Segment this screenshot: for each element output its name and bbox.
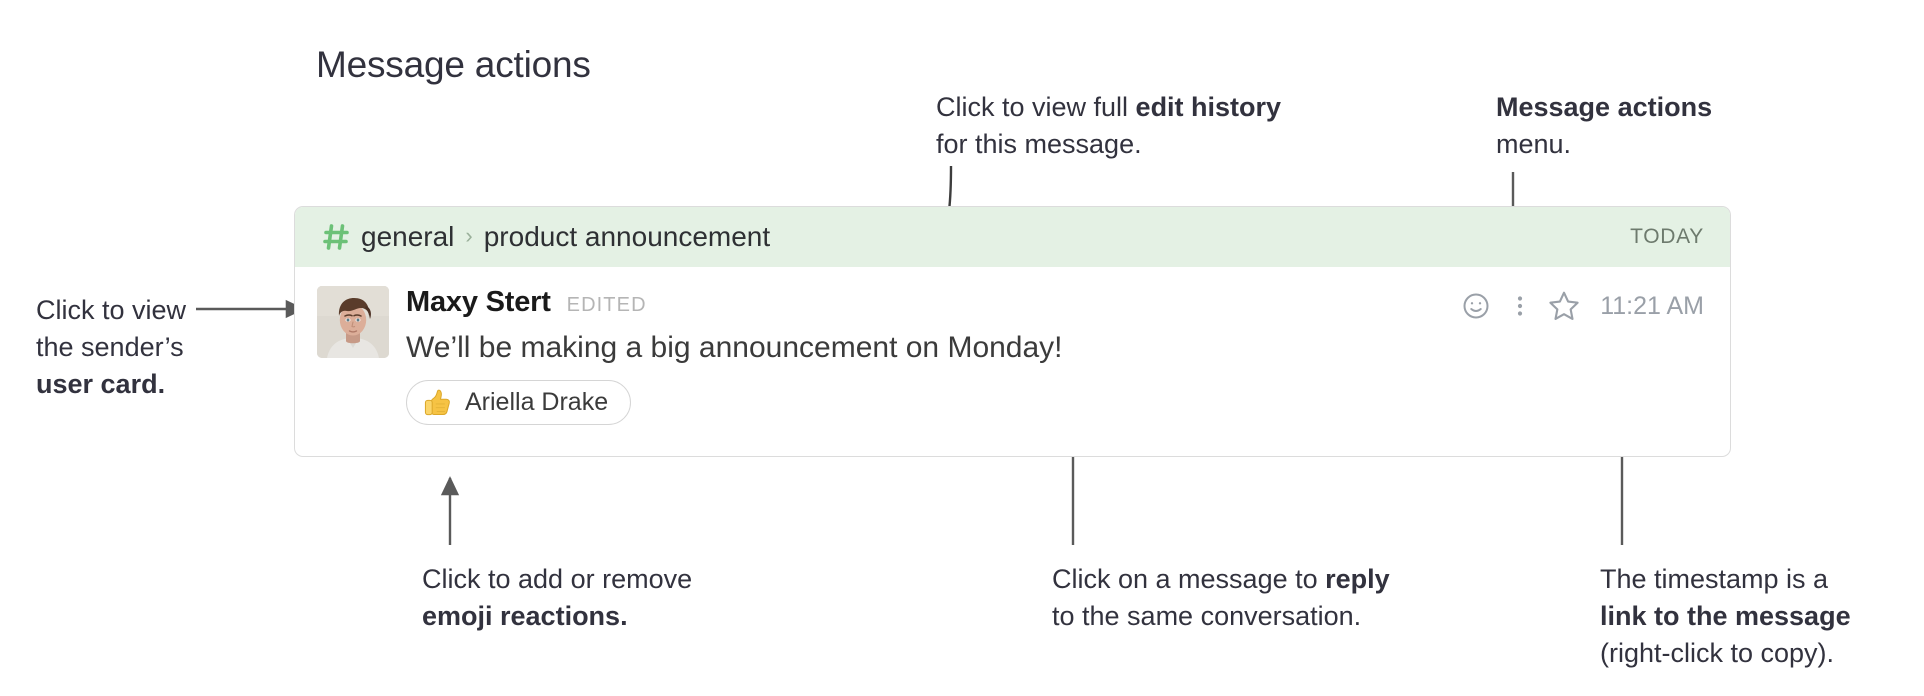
page-title: Message actions: [316, 44, 591, 86]
emoji-reaction-icon[interactable]: [1454, 288, 1498, 324]
message-row[interactable]: Maxy Stert EDITED We’ll be making a big …: [295, 267, 1730, 425]
annotation-actions-menu-line1-bold: Message actions: [1496, 92, 1712, 122]
message-actions-menu-icon[interactable]: [1498, 288, 1542, 324]
annotation-reply-line1-bold: reply: [1325, 564, 1390, 594]
stream-name[interactable]: general: [361, 221, 454, 253]
annotation-actions-menu-line2: menu.: [1496, 126, 1712, 163]
annotation-user-card: Click to view the sender’s user card.: [36, 292, 186, 403]
star-icon[interactable]: [1542, 288, 1586, 324]
annotation-edit-history-line1-bold: edit history: [1136, 92, 1282, 122]
message-controls: 11:21 AM: [1454, 288, 1704, 324]
message-card: general › product announcement TODAY: [294, 206, 1731, 457]
annotation-timestamp-line1: The timestamp is a: [1600, 561, 1851, 598]
annotation-timestamp-line3: (right-click to copy).: [1600, 635, 1851, 672]
annotation-user-card-line3-bold: user card.: [36, 369, 165, 399]
annotation-reply-line1-pre: Click on a message to: [1052, 564, 1325, 594]
hash-icon: [323, 222, 350, 252]
message-body[interactable]: We’ll be making a big announcement on Mo…: [406, 329, 1454, 367]
reaction-label: Ariella Drake: [465, 388, 608, 417]
annotation-actions-menu: Message actions menu.: [1496, 89, 1712, 163]
annotation-emoji-line2-bold: emoji reactions.: [422, 601, 628, 631]
page-root: Message actions Click to view full edit …: [0, 0, 1924, 696]
topic-name[interactable]: product announcement: [484, 221, 770, 253]
message-content: Maxy Stert EDITED We’ll be making a big …: [406, 286, 1454, 425]
annotation-timestamp-line2-bold: link to the message: [1600, 601, 1851, 631]
annotation-emoji-line1: Click to add or remove: [422, 561, 692, 598]
annotation-edit-history-line1-pre: Click to view full: [936, 92, 1136, 122]
annotation-reply-line2: to the same conversation.: [1052, 598, 1390, 635]
avatar[interactable]: [317, 286, 389, 358]
reaction-list: Ariella Drake: [406, 380, 1454, 425]
annotation-edit-history-line2: for this message.: [936, 126, 1281, 163]
recipient-bar[interactable]: general › product announcement TODAY: [295, 207, 1730, 267]
annotation-emoji-reactions: Click to add or remove emoji reactions.: [422, 561, 692, 635]
annotation-edit-history: Click to view full edit history for this…: [936, 89, 1281, 163]
breadcrumb-separator-icon: ›: [465, 225, 472, 247]
thumbs-up-emoji-icon: [423, 388, 453, 418]
sender-line: Maxy Stert EDITED: [406, 286, 1454, 322]
recipient-bar-date: TODAY: [1630, 225, 1704, 249]
avatar-photo: [317, 286, 389, 358]
sender-name[interactable]: Maxy Stert: [406, 286, 551, 319]
reaction-pill[interactable]: Ariella Drake: [406, 380, 631, 425]
annotation-timestamp: The timestamp is a link to the message (…: [1600, 561, 1851, 672]
message-timestamp[interactable]: 11:21 AM: [1600, 292, 1704, 321]
annotation-user-card-line1: Click to view: [36, 292, 186, 329]
annotation-user-card-line2: the sender’s: [36, 329, 186, 366]
annotation-reply: Click on a message to reply to the same …: [1052, 561, 1390, 635]
edited-badge[interactable]: EDITED: [567, 294, 647, 317]
